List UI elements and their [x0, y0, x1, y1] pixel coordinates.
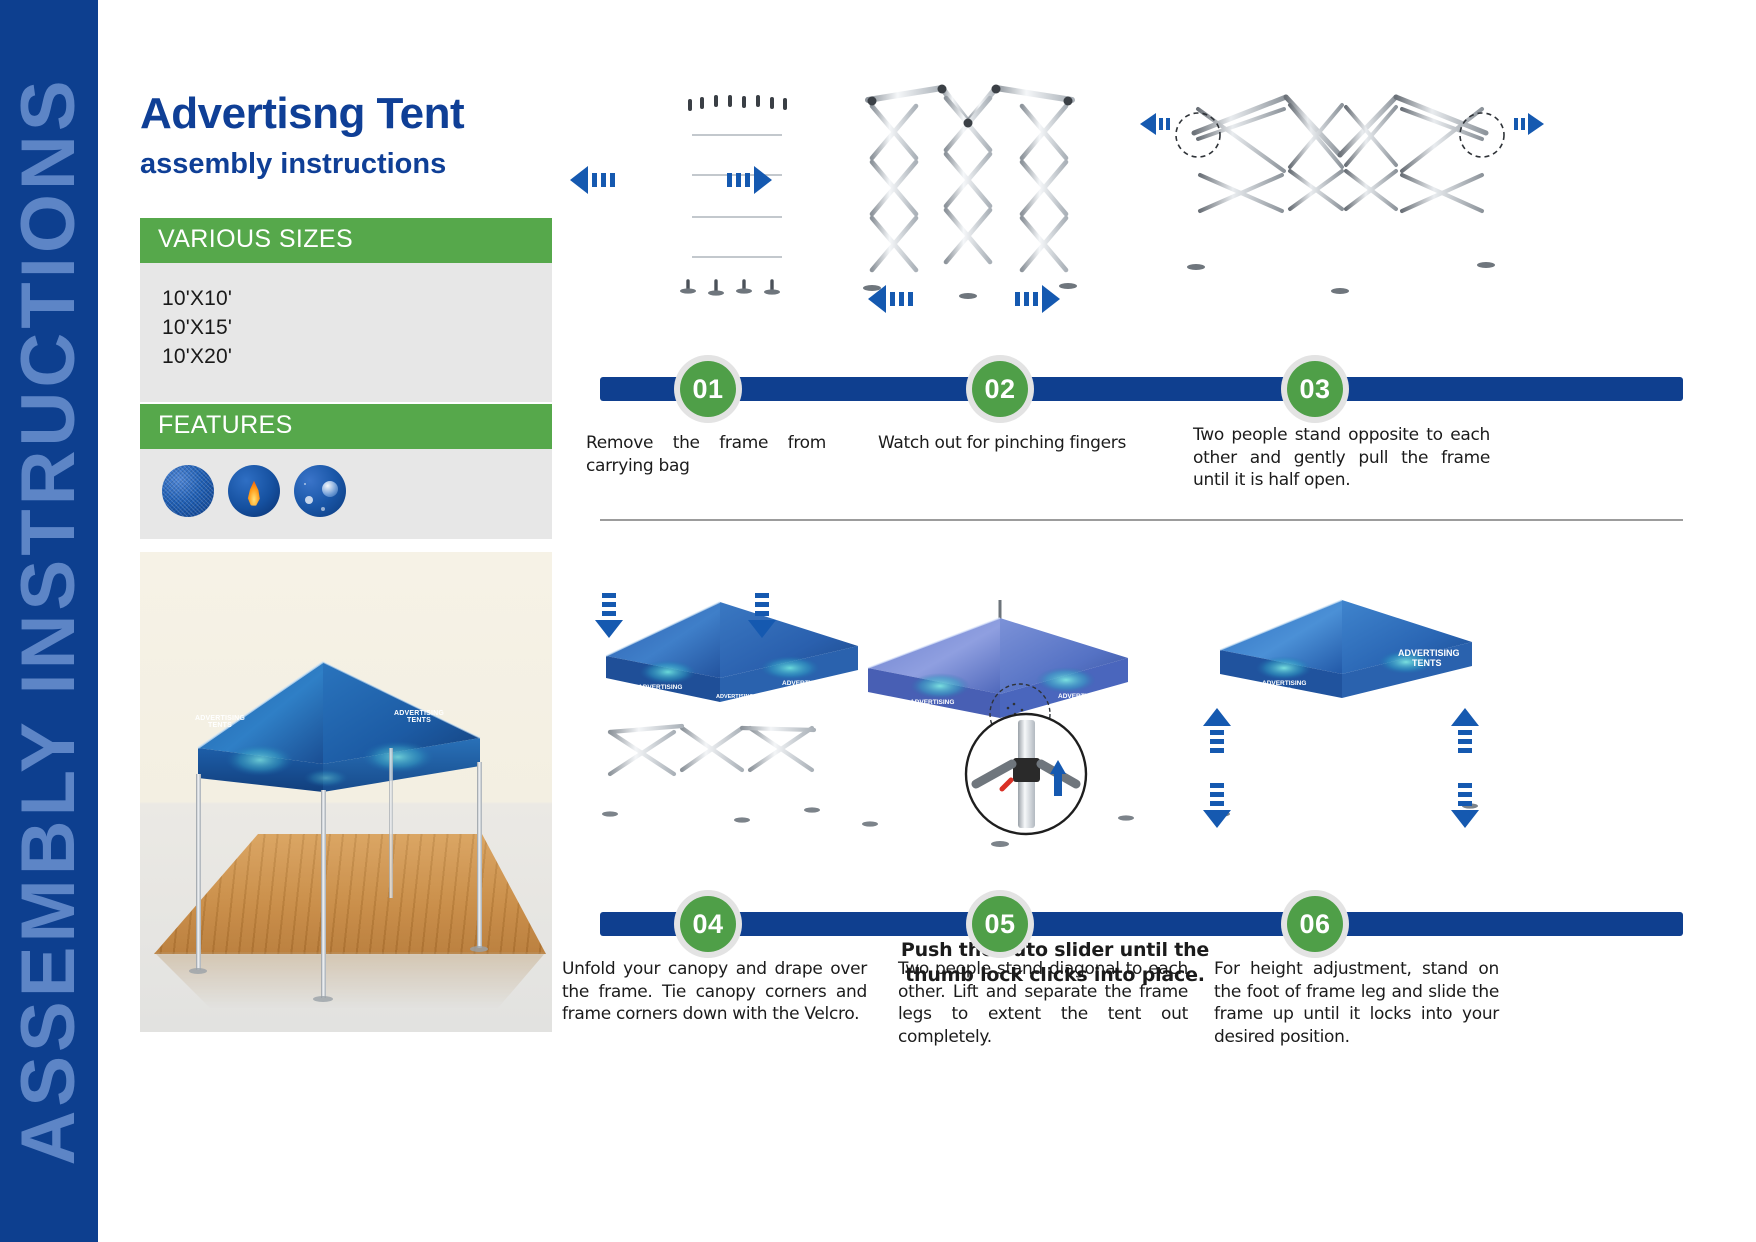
illustration-frame-half-open	[1160, 75, 1520, 325]
svg-text:TENTS: TENTS	[792, 687, 814, 694]
side-banner-text: ASSEMBLY INSTRUCTIONS	[11, 76, 87, 1165]
flame-retardant-icon	[228, 465, 280, 517]
step-badge-06: 06	[1281, 890, 1349, 958]
step-rail-row1	[600, 377, 1683, 401]
illustration-tent-slider: ADVERTISING TENTS ADVERTISING TENTS	[852, 584, 1182, 874]
step-badge-03: 03	[1281, 355, 1349, 423]
svg-text:ADVERTISING: ADVERTISING	[638, 684, 682, 691]
panel-various-sizes-body: 10'X10' 10'X15' 10'X20'	[140, 263, 552, 402]
side-banner: ASSEMBLY INSTRUCTIONS	[0, 0, 98, 1242]
canopy-brand-right: ADVERTISINGTENTS	[385, 710, 453, 725]
svg-text:ADVERTISING: ADVERTISING	[910, 699, 954, 706]
step-badge-05-number: 05	[972, 896, 1028, 952]
instruction-sheet-page: ASSEMBLY INSTRUCTIONS Advertisng Tent as…	[0, 0, 1756, 1242]
panel-various-sizes: VARIOUS SIZES 10'X10' 10'X15' 10'X20'	[140, 218, 552, 402]
product-photo: ADVERTISINGTENTS ADVERTISINGTENTS	[140, 552, 552, 1032]
panel-features: FEATURES	[140, 404, 552, 539]
step-caption-03: Two people stand opposite to each other …	[1193, 424, 1490, 492]
step-badge-06-number: 06	[1287, 896, 1343, 952]
page-subtitle: assembly instructions	[140, 150, 446, 179]
step-caption-05: Two people stand diagonal to each other.…	[898, 958, 1188, 1048]
panel-various-sizes-heading: VARIOUS SIZES	[140, 218, 552, 263]
arrow-down-step6-left	[1200, 770, 1234, 828]
step-caption-06: For height adjustment, stand on the foot…	[1214, 958, 1499, 1048]
arrow-down-step4-right	[745, 578, 779, 638]
svg-text:TENTS: TENTS	[1068, 700, 1090, 707]
size-option: 10'X15'	[162, 314, 552, 343]
arrow-right-step1	[710, 163, 772, 197]
page-title: Advertisng Tent	[140, 92, 464, 136]
arrow-down-step6-right	[1448, 770, 1482, 828]
step-caption-04: Unfold your canopy and drape over the fr…	[562, 958, 867, 1026]
svg-text:TENTS: TENTS	[1412, 658, 1442, 668]
svg-text:TENTS: TENTS	[918, 706, 940, 713]
svg-text:ADVERTISING: ADVERTISING	[1058, 693, 1102, 700]
svg-text:ADVERTISING: ADVERTISING	[1262, 680, 1306, 687]
step-badge-02: 02	[966, 355, 1034, 423]
fabric-weave-icon	[162, 465, 214, 517]
arrow-right-step3	[1496, 110, 1544, 138]
size-option: 10'X10'	[162, 285, 552, 314]
size-option: 10'X20'	[162, 343, 552, 372]
step-badge-03-number: 03	[1287, 361, 1343, 417]
step-badge-04: 04	[674, 890, 742, 958]
step-badge-02-number: 02	[972, 361, 1028, 417]
arrow-right-step2	[998, 282, 1060, 316]
step-badge-05: 05	[966, 890, 1034, 958]
step-rail-row2	[600, 912, 1683, 936]
svg-text:ADVERTISING: ADVERTISING	[1398, 648, 1460, 658]
arrow-up-step6-right	[1448, 708, 1482, 766]
section-divider	[600, 519, 1683, 521]
water-resistant-icon	[294, 465, 346, 517]
arrow-left-step3	[1140, 110, 1188, 138]
arrow-down-step4-left	[592, 578, 626, 638]
arrow-up-step6-left	[1200, 708, 1234, 766]
svg-text:TENTS: TENTS	[1270, 687, 1292, 694]
canopy-brand-left: ADVERTISINGTENTS	[188, 715, 252, 730]
panel-features-heading: FEATURES	[140, 404, 552, 449]
arrow-left-step2	[868, 282, 930, 316]
arrow-left-step1	[570, 163, 632, 197]
step-caption-02: Watch out for pinching fingers	[878, 432, 1138, 455]
right-column: 01 02 03 Remove the frame from carrying …	[600, 0, 1700, 1242]
step-badge-01: 01	[674, 355, 742, 423]
tent-photo-illustration	[140, 552, 552, 1032]
svg-text:ADVERTISING: ADVERTISING	[716, 694, 754, 700]
svg-text:TENTS: TENTS	[646, 691, 668, 698]
svg-text:ADVERTISING: ADVERTISING	[782, 680, 826, 687]
step-caption-01: Remove the frame from carrying bag	[586, 432, 826, 477]
step-badge-04-number: 04	[680, 896, 736, 952]
panel-features-body	[140, 449, 552, 539]
left-column: Advertisng Tent assembly instructions VA…	[140, 0, 560, 1242]
step-badge-01-number: 01	[680, 361, 736, 417]
